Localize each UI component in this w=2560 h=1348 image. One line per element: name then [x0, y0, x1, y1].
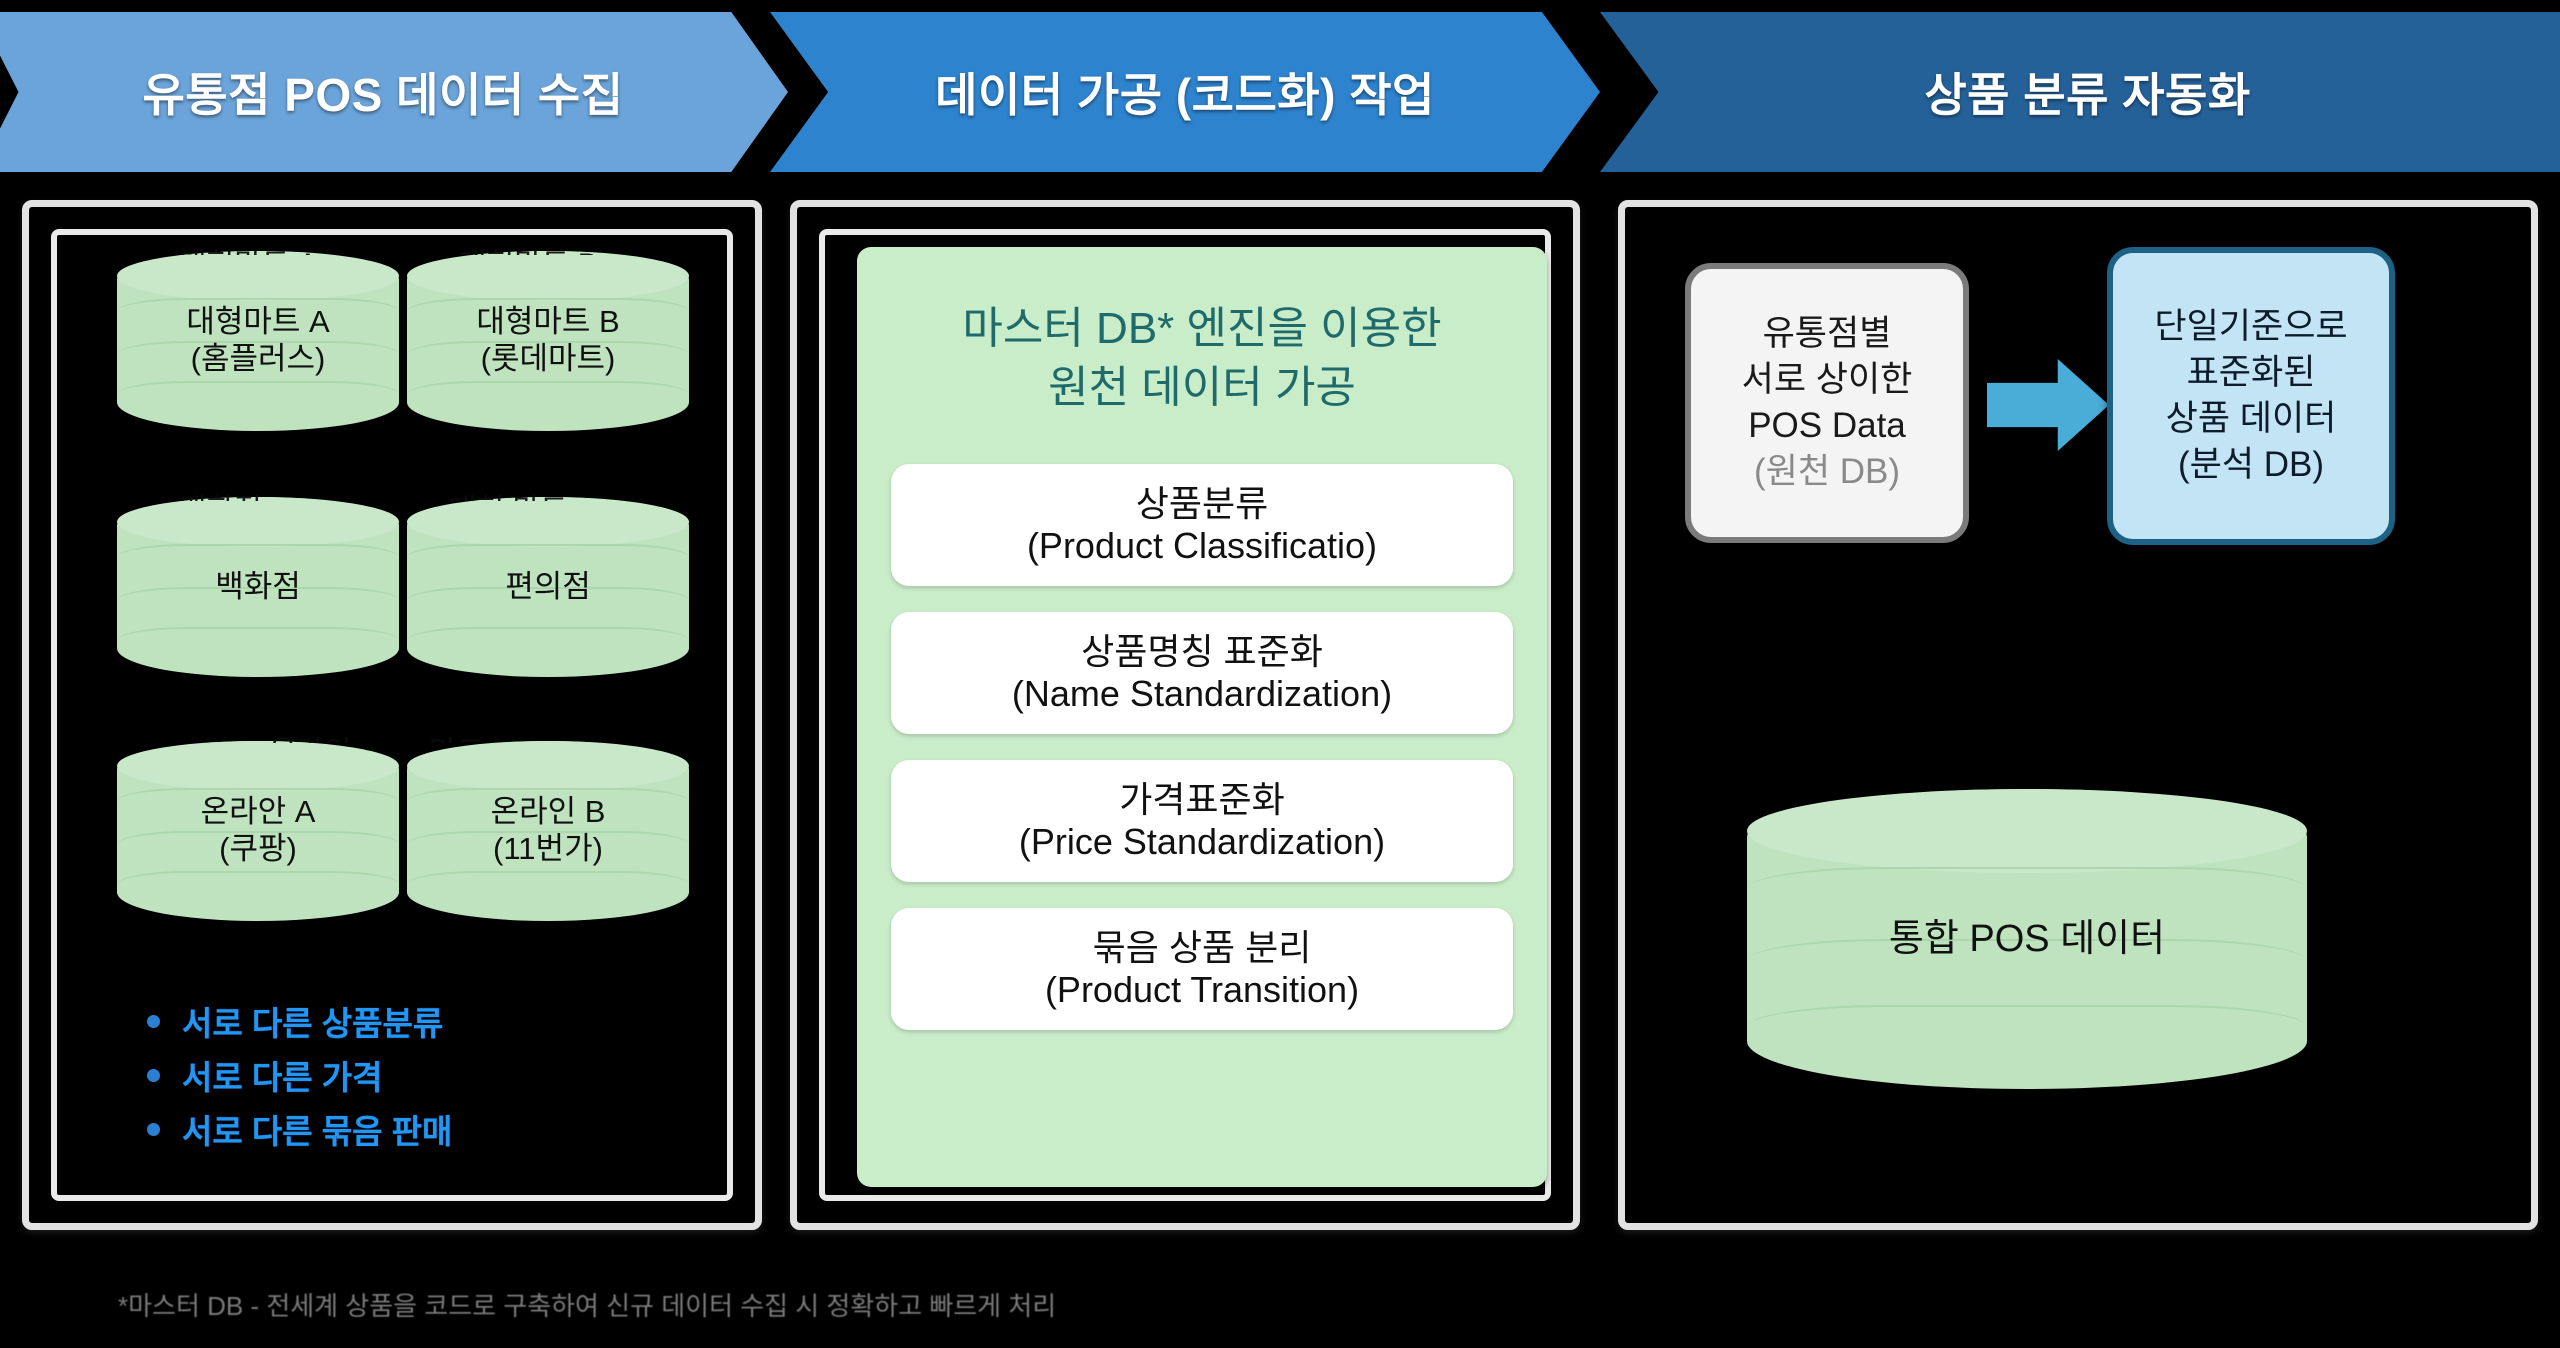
- cylinder-ring: [117, 871, 399, 898]
- card-en-label-2: (Name Standardization): [1012, 673, 1392, 714]
- bullet-item-1: 서로 다른 상품분류: [147, 997, 452, 1045]
- card-ko-label-1: 상품분류: [1136, 483, 1268, 524]
- analysis-db-line-3: 상품 데이터: [2166, 396, 2337, 442]
- bullet-text-2: 서로 다른 가격: [182, 1051, 383, 1099]
- db-sub-1: (홈플러스): [186, 341, 329, 378]
- cylinder-cap: [117, 497, 399, 547]
- panel-pos-collection: 대형마트 A 대형마트 A (홈플러스) 대형마트 B 대형마트 B (롯데마트…: [22, 200, 762, 1230]
- db-ghost-label-6: 마트: [429, 727, 569, 743]
- analysis-db-line-1: 단일기준으로: [2154, 304, 2347, 350]
- cylinder-cap: [407, 251, 689, 301]
- bullet-text-1: 서로 다른 상품분류: [182, 997, 443, 1045]
- footnote-text: *마스터 DB - 전세계 상품을 코드로 구축하여 신규 데이터 수집 시 정…: [118, 1286, 1056, 1323]
- master-db-title-line1: 마스터 DB* 엔진을 이용한: [857, 299, 1547, 358]
- master-db-title: 마스터 DB* 엔진을 이용한 원천 데이터 가공: [857, 247, 1547, 418]
- integrated-pos-cylinder: 통합 POS 데이터: [1747, 789, 2307, 1089]
- database-cylinder-5: 온라안 A (쿠팡): [117, 741, 399, 921]
- cylinder-ring: [407, 871, 689, 898]
- cylinder-ring: [407, 627, 689, 654]
- bullet-dot-icon: [147, 1015, 160, 1028]
- analysis-db-line-2: 표준화된: [2187, 350, 2316, 396]
- integrated-pos-label: 통합 POS 데이터: [1889, 917, 2165, 962]
- database-label-6: 온라인 B (11번가): [491, 794, 606, 867]
- db-name-3: 백화점: [215, 569, 301, 604]
- bullet-item-2: 서로 다른 가격: [147, 1051, 452, 1099]
- db-name-5: 온라안 A: [201, 794, 316, 829]
- panel-auto-classification: 유통점별 서로 상이한 POS Data (원천 DB) 단일기준으로 표준화된…: [1618, 200, 2538, 1230]
- source-db-box: 유통점별 서로 상이한 POS Data (원천 DB): [1685, 263, 1969, 543]
- cylinder-cap: [117, 741, 399, 791]
- database-cylinder-2: 대형마트 B (롯데마트): [407, 251, 689, 431]
- analysis-db-box: 단일기준으로 표준화된 상품 데이터 (분석 DB): [2107, 247, 2395, 545]
- difference-bullet-list: 서로 다른 상품분류 서로 다른 가격 서로 다른 묶음 판매: [147, 997, 452, 1159]
- card-ko-label-2: 상품명칭 표준화: [1081, 631, 1323, 672]
- source-db-line-1: 유통점별: [1763, 311, 1892, 357]
- db-sub-2: (롯데마트): [476, 341, 619, 378]
- process-step-3-label: 상품 분류 자동화: [1924, 59, 2250, 125]
- process-step-1-label: 유통점 POS 데이터 수집: [142, 59, 623, 125]
- db-ghost-label-3: 백화점: [179, 485, 429, 501]
- db-ghost-label-1: 대형마트 A: [179, 239, 429, 255]
- db-sub-6: (11번가): [491, 831, 606, 868]
- diagram-canvas: 유통점 POS 데이터 수집 데이터 가공 (코드화) 작업 상품 분류 자동화…: [0, 0, 2560, 1348]
- cylinder-cap: [407, 741, 689, 791]
- process-step-3-chevron[interactable]: 상품 분류 자동화: [1600, 12, 2560, 172]
- panel-data-processing: 마스터 DB* 엔진을 이용한 원천 데이터 가공 상품분류 (Product …: [790, 200, 1580, 1230]
- cylinder-cap: [407, 497, 689, 547]
- db-ghost-label-4: 대형 마트: [449, 485, 719, 501]
- card-en-label-4: (Product Transition): [1045, 969, 1359, 1010]
- database-cylinder-4: 편의점: [407, 497, 689, 677]
- cylinder-ring: [1747, 1005, 2307, 1049]
- processing-card-product-transition[interactable]: 묶음 상품 분리 (Product Transition): [891, 908, 1513, 1030]
- cylinder-ring: [407, 544, 689, 571]
- bullet-item-3: 서로 다른 묶음 판매: [147, 1105, 452, 1153]
- bullet-dot-icon: [147, 1069, 160, 1082]
- source-db-caption: (원천 DB): [1754, 449, 1900, 495]
- card-ko-label-4: 묶음 상품 분리: [1093, 927, 1312, 968]
- cylinder-cap: [117, 251, 399, 301]
- processing-card-list: 상품분류 (Product Classificatio) 상품명칭 표준화 (N…: [857, 464, 1547, 1030]
- database-label-5: 온라안 A (쿠팡): [201, 794, 316, 867]
- db-name-4: 편의점: [505, 569, 591, 604]
- db-ghost-label-5: 온라인: [269, 727, 409, 743]
- database-label-2: 대형마트 B (롯데마트): [476, 304, 619, 377]
- cylinder-ring: [1747, 867, 2307, 911]
- processing-card-name-standardization[interactable]: 상품명칭 표준화 (Name Standardization): [891, 612, 1513, 734]
- process-step-2-label: 데이터 가공 (코드화) 작업: [935, 59, 1435, 125]
- database-label-1: 대형마트 A (홈플러스): [186, 304, 329, 377]
- db-name-1: 대형마트 A: [186, 304, 329, 339]
- source-db-line-3: POS Data: [1748, 403, 1906, 449]
- bullet-text-3: 서로 다른 묶음 판매: [182, 1105, 452, 1153]
- db-ghost-label-2: 대형마트 B: [459, 239, 709, 255]
- database-cylinder-3: 백화점: [117, 497, 399, 677]
- database-label-4: 편의점: [505, 569, 591, 606]
- database-cylinder-1: 대형마트 A (홈플러스): [117, 251, 399, 431]
- card-en-label-1: (Product Classificatio): [1027, 525, 1377, 566]
- card-en-label-3: (Price Standardization): [1019, 821, 1385, 862]
- cylinder-ring: [117, 544, 399, 571]
- cylinder-ring: [117, 627, 399, 654]
- db-name-6: 온라인 B: [491, 794, 606, 829]
- process-step-1-chevron[interactable]: 유통점 POS 데이터 수집: [0, 12, 788, 172]
- db-name-2: 대형마트 B: [476, 304, 619, 339]
- source-db-line-2: 서로 상이한: [1742, 357, 1913, 403]
- master-db-title-line2: 원천 데이터 가공: [857, 358, 1547, 417]
- analysis-db-caption: (분석 DB): [2178, 442, 2324, 488]
- processing-card-price-standardization[interactable]: 가격표준화 (Price Standardization): [891, 760, 1513, 882]
- process-step-2-chevron[interactable]: 데이터 가공 (코드화) 작업: [770, 12, 1600, 172]
- db-sub-5: (쿠팡): [201, 831, 316, 868]
- bullet-dot-icon: [147, 1123, 160, 1136]
- right-arrow-icon: [1987, 359, 2109, 451]
- master-db-engine-box: 마스터 DB* 엔진을 이용한 원천 데이터 가공 상품분류 (Product …: [857, 247, 1547, 1187]
- card-ko-label-3: 가격표준화: [1119, 779, 1285, 820]
- cylinder-cap: [1747, 789, 2307, 873]
- processing-card-product-classification[interactable]: 상품분류 (Product Classificatio): [891, 464, 1513, 586]
- cylinder-ring: [407, 381, 689, 408]
- database-cylinder-6: 온라인 B (11번가): [407, 741, 689, 921]
- cylinder-ring: [117, 381, 399, 408]
- database-label-3: 백화점: [215, 569, 301, 606]
